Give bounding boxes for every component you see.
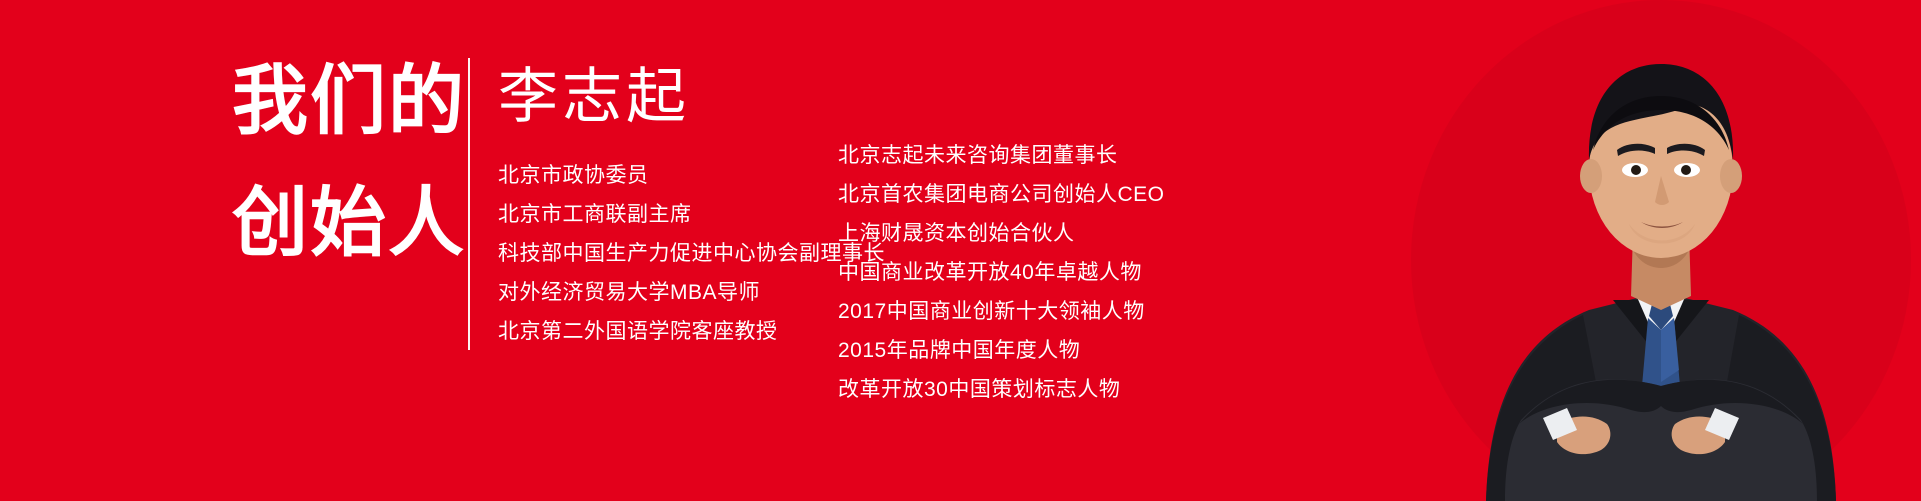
- list-item: 上海财晟资本创始合伙人: [838, 214, 1165, 253]
- founder-name: 李志起: [498, 62, 690, 132]
- list-item: 科技部中国生产力促进中心协会副理事长: [498, 234, 885, 273]
- list-item: 北京市工商联副主席: [498, 195, 885, 234]
- list-item: 2015年品牌中国年度人物: [838, 331, 1165, 370]
- portrait-illustration: [1361, 0, 1921, 501]
- list-item: 改革开放30中国策划标志人物: [838, 370, 1165, 409]
- headline-line-2: 创始人: [232, 174, 472, 274]
- list-item: 北京首农集团电商公司创始人CEO: [838, 175, 1165, 214]
- founder-portrait: [1361, 0, 1921, 501]
- credentials-column-left: 北京市政协委员 北京市工商联副主席 科技部中国生产力促进中心协会副理事长 对外经…: [498, 156, 885, 351]
- list-item: 北京第二外国语学院客座教授: [498, 312, 885, 351]
- list-item: 2017中国商业创新十大领袖人物: [838, 292, 1165, 331]
- page-title: 我们的 创始人: [232, 52, 472, 274]
- list-item: 对外经济贸易大学MBA导师: [498, 273, 885, 312]
- vertical-divider: [468, 58, 470, 350]
- credentials-column-right: 北京志起未来咨询集团董事长 北京首农集团电商公司创始人CEO 上海财晟资本创始合…: [838, 136, 1165, 409]
- list-item: 北京市政协委员: [498, 156, 885, 195]
- list-item: 北京志起未来咨询集团董事长: [838, 136, 1165, 175]
- founder-banner: 我们的 创始人 李志起 北京市政协委员 北京市工商联副主席 科技部中国生产力促进…: [0, 0, 1921, 501]
- list-item: 中国商业改革开放40年卓越人物: [838, 253, 1165, 292]
- headline-line-1: 我们的: [232, 52, 472, 152]
